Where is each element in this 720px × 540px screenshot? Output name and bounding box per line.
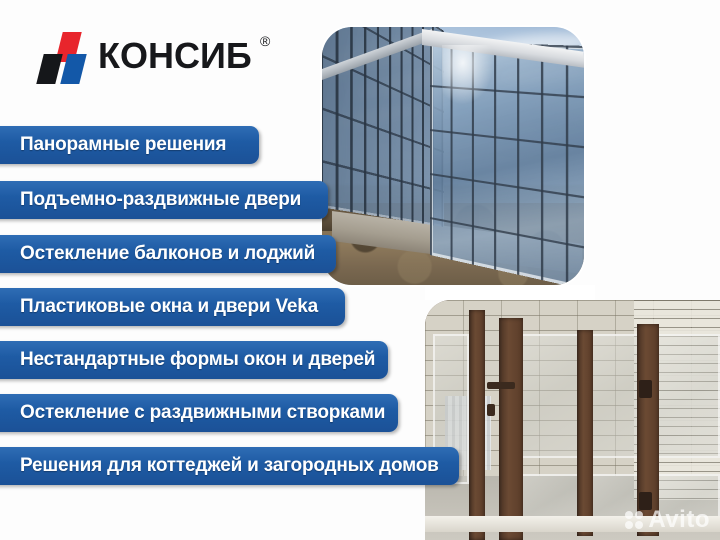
glass-pane <box>521 334 579 458</box>
feature-banner-6[interactable]: Остекление с раздвижными створками <box>0 394 398 432</box>
avito-dots-icon <box>625 511 643 529</box>
brand-name: КОНСИБ <box>98 34 252 78</box>
lock-cylinder-icon[interactable] <box>487 404 495 416</box>
photo-glass-facade <box>322 27 584 285</box>
window-handle[interactable] <box>487 382 515 389</box>
photo-brown-window <box>425 300 720 540</box>
sun-glare <box>442 45 494 105</box>
feature-banner-label: Нестандартные формы окон и дверей <box>0 349 375 371</box>
hinge-icon <box>639 380 652 398</box>
avito-wordmark: Avito <box>648 508 710 532</box>
glass-pane <box>591 334 639 458</box>
brand-logo: КОНСИБ ® <box>36 28 286 90</box>
feature-banner-7[interactable]: Решения для коттеджей и загородных домов <box>0 447 459 485</box>
door-frame-vertical <box>499 318 523 540</box>
feature-banner-label: Панорамные решения <box>0 134 226 156</box>
logo-mark-icon <box>36 30 94 86</box>
avito-watermark: Avito <box>625 508 710 532</box>
poster-canvas: КОНСИБ ® <box>0 0 720 540</box>
feature-banner-label: Остекление балконов и лоджий <box>0 243 315 265</box>
feature-banner-label: Решения для коттеджей и загородных домов <box>0 455 439 477</box>
feature-banner-label: Подъемно-раздвижные двери <box>0 189 301 211</box>
feature-banner-5[interactable]: Нестандартные формы окон и дверей <box>0 341 388 379</box>
photo-separator <box>425 285 595 300</box>
window-frame-vertical <box>577 330 593 536</box>
feature-banner-2[interactable]: Подъемно-раздвижные двери <box>0 181 328 219</box>
window-frame-vertical <box>469 310 485 540</box>
feature-banner-label: Пластиковые окна и двери Veka <box>0 296 318 318</box>
feature-banner-3[interactable]: Остекление балконов и лоджий <box>0 235 336 273</box>
feature-banner-4[interactable]: Пластиковые окна и двери Veka <box>0 288 345 326</box>
feature-banner-label: Остекление с раздвижными створками <box>0 402 385 424</box>
feature-banner-1[interactable]: Панорамные решения <box>0 126 259 164</box>
glass-pane <box>657 334 720 458</box>
logo-parallelogram-black-icon <box>36 54 62 84</box>
registered-trademark-icon: ® <box>260 34 270 48</box>
